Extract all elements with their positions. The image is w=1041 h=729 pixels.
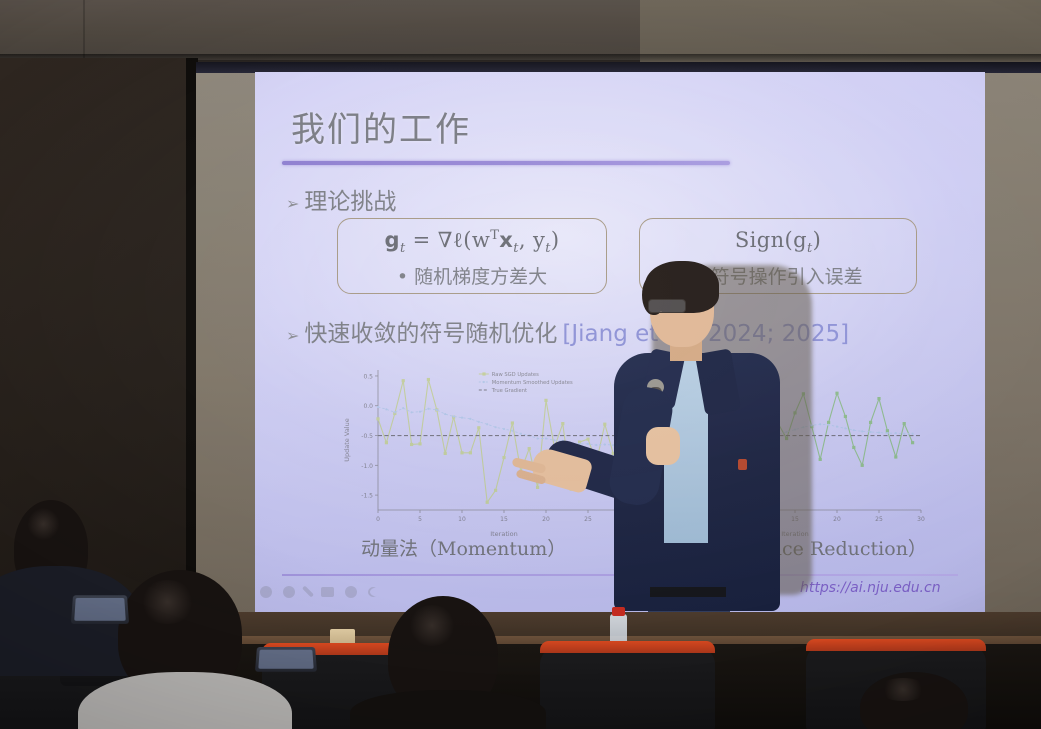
- formula-x: x: [499, 228, 513, 252]
- svg-text:0: 0: [376, 516, 380, 523]
- slide-title: 我们的工作: [291, 102, 471, 151]
- gradient-formula-box: gt = ∇ℓ(wTxt, yt) • 随机梯度方差大: [337, 218, 607, 294]
- bullet-arrow-icon-2: ➢: [286, 328, 299, 344]
- chair-trim: [806, 639, 986, 651]
- presenter-toolbar[interactable]: [260, 585, 378, 598]
- svg-text:True Gradient: True Gradient: [491, 388, 527, 394]
- bullet-label-2: 快速收敛的符号随机优化: [304, 314, 557, 348]
- wall-seam: [83, 0, 85, 60]
- hair-sheen: [879, 678, 927, 702]
- pen-icon[interactable]: [302, 585, 314, 597]
- svg-text:-1.0: -1.0: [361, 463, 373, 470]
- laptop-screen: [74, 598, 126, 621]
- svg-text:-1.5: -1.5: [361, 493, 373, 500]
- hair-sheen: [408, 605, 456, 645]
- presenter: [590, 255, 840, 655]
- pointer-icon[interactable]: [260, 586, 272, 598]
- laptop[interactable]: [71, 595, 129, 624]
- bullet-arrow-icon: ➢: [286, 196, 299, 212]
- gradient-formula: gt = ∇ℓ(wTxt, yt): [338, 228, 606, 256]
- sign-lead: Sign(g: [735, 228, 807, 252]
- chair-trim: [540, 641, 715, 653]
- chair: [540, 648, 715, 729]
- formula-eq: = ∇ℓ(w: [406, 228, 491, 252]
- formula-paren: ): [551, 228, 560, 252]
- laptop[interactable]: [255, 647, 317, 672]
- bullet-theoretical-challenge: ➢ 理论挑战: [286, 182, 396, 216]
- svg-text:20: 20: [542, 516, 550, 523]
- svg-text:Raw SGD Updates: Raw SGD Updates: [492, 372, 539, 378]
- svg-text:0.5: 0.5: [363, 373, 373, 380]
- svg-text:25: 25: [875, 516, 883, 523]
- formula-g: g: [385, 228, 400, 252]
- svg-text:10: 10: [458, 516, 466, 523]
- formula-y: , y: [519, 228, 545, 252]
- chevron-left-icon[interactable]: [366, 584, 380, 598]
- svg-text:0.0: 0.0: [363, 403, 373, 410]
- svg-text:Update Value: Update Value: [343, 418, 351, 461]
- gradient-box-bullet: • 随机梯度方差大: [338, 262, 606, 289]
- more-icon[interactable]: [345, 586, 357, 598]
- svg-text:30: 30: [917, 516, 925, 523]
- lecture-hall-photo: 我们的工作 ➢ 理论挑战 gt = ∇ℓ(wTxt, yt) • 随机梯度方差大…: [0, 0, 1041, 729]
- svg-text:5: 5: [418, 516, 422, 523]
- svg-text:15: 15: [500, 516, 508, 523]
- caption-momentum: 动量法（Momentum）: [361, 534, 566, 561]
- sign-paren: ): [813, 228, 822, 252]
- laptop-screen: [258, 650, 313, 669]
- wall-right-of-screen: [985, 72, 1041, 632]
- play-icon[interactable]: [283, 586, 295, 598]
- svg-text:Momentum Smoothed Updates: Momentum Smoothed Updates: [492, 380, 573, 386]
- svg-text:-0.5: -0.5: [361, 433, 373, 440]
- bullet-label: 理论挑战: [304, 182, 396, 216]
- title-underline: [282, 161, 730, 165]
- presenter-belt: [650, 587, 726, 597]
- hair-sheen: [27, 508, 60, 541]
- presenter-badge: [738, 459, 747, 470]
- formula-transpose: T: [490, 228, 499, 243]
- presenter-mic-hand: [646, 427, 680, 465]
- glasses-icon: [648, 299, 686, 313]
- audience-shoulders: [350, 690, 546, 729]
- sign-formula: Sign(gt): [640, 228, 916, 256]
- water-bottle-cap: [612, 607, 625, 616]
- grid-icon[interactable]: [321, 587, 334, 597]
- hair-sheen: [140, 580, 195, 624]
